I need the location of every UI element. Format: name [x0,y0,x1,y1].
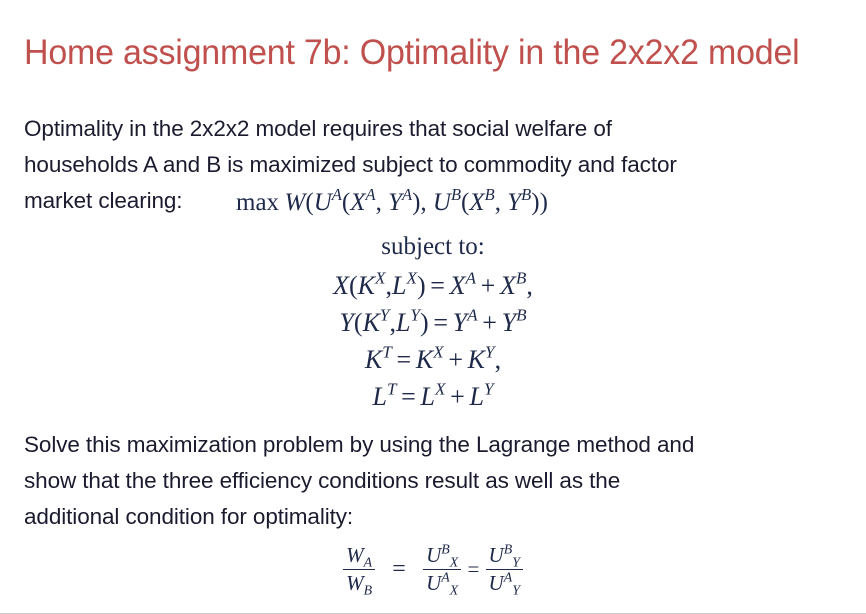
welfare-function-symbol: W [285,189,306,216]
constraint-equation-1: X(KX,LX)=XA+XB, [0,271,866,301]
utility-b-arg1-base: X [469,189,484,216]
ubx-base: U [426,543,441,567]
task-paragraph: Solve this maximization problem by using… [24,427,850,535]
marginal-utility-y-fraction: UBY UAY [486,543,523,596]
utility-a-args-open: ( [342,189,350,216]
uay-base: U [489,571,504,595]
eq4-rhs1-base: L [421,382,435,411]
eq3-rhs1-base: K [416,345,433,374]
eq2-lhs-function: Y [339,308,353,337]
utility-b-arg-comma: , [495,189,501,216]
paren-open: ( [305,189,313,216]
eq4-equals-sign: = [397,382,421,411]
muy-denominator: UAY [486,570,523,596]
subject-to-heading: subject to: [0,233,866,261]
welfare-weight-numerator: WA [343,543,375,570]
utility-b-base: U [433,189,451,216]
eq1-rhs2-base: X [500,271,516,300]
eq3-rhs2-superscript: Y [485,342,495,361]
eq1-lhs-function: X [333,271,349,300]
final-equals-sign-2: = [466,557,480,582]
eq2-labor-base: L [396,308,410,337]
utility-b-arg1-superscript: B [485,185,495,204]
uax-superscript: A [441,569,449,584]
intro-line-2: households A and B is maximized subject … [24,147,850,183]
mux-numerator: UBX [423,543,461,570]
eq3-rhs2-base: K [468,345,485,374]
eq3-equals-sign: = [392,345,416,374]
eq4-lhs-base: L [372,382,386,411]
eq1-capital-base: K [358,271,375,300]
uax-base: U [426,571,441,595]
eq1-labor-base: L [392,271,406,300]
optimality-condition-formula: WA WB = UBX UAX = UBY UAY [0,543,866,596]
eq1-rhs1-superscript: A [466,268,476,287]
eq4-rhs2-superscript: Y [484,379,494,398]
eq2-rhs1-base: Y [453,308,467,337]
eq2-labor-superscript: Y [410,305,420,324]
utility-a-arg2-base: Y [388,189,402,216]
eq1-capital-superscript: X [375,268,385,287]
eq2-plus-sign: + [478,308,502,337]
uax-subscript: X [450,582,458,597]
eq1-rhs2-superscript: B [516,268,526,287]
utility-b-arg2-base: Y [507,189,521,216]
slide-canvas: Home assignment 7b: Optimality in the 2x… [0,0,866,614]
eq3-plus-sign: + [444,345,468,374]
eq2-rhs2-superscript: B [516,305,526,324]
utility-b-superscript: B [451,185,461,204]
utility-a-arg1-superscript: A [365,185,375,204]
objective-separator: , [420,189,426,216]
eq1-plus-sign: + [476,271,500,300]
constraint-equation-3: KT=KX+KY, [0,345,866,375]
task-line-2: show that the three efficiency condition… [24,463,850,499]
eq2-capital-base: K [363,308,380,337]
utility-a-arg2-superscript: A [402,185,412,204]
utility-a-arg1-base: X [350,189,365,216]
uby-subscript: Y [512,555,520,570]
mux-denominator: UAX [423,570,461,596]
eq2-rhs1-superscript: A [467,305,477,324]
welfare-weight-fraction: WA WB [343,543,375,596]
eq2-paren-open: ( [354,308,363,337]
eq4-rhs1-superscript: X [435,379,445,398]
eq3-lhs-base: K [365,345,382,374]
eq3-lhs-superscript: T [382,342,392,361]
eq4-plus-sign: + [445,382,469,411]
uay-subscript: Y [512,582,520,597]
eq1-paren-open: ( [349,271,358,300]
marginal-utility-x-fraction: UBX UAX [423,543,461,596]
eq2-equals-sign: = [429,308,453,337]
wa-subscript: A [364,555,372,570]
uay-superscript: A [504,569,512,584]
uby-superscript: B [504,541,512,556]
utility-b-arg2-superscript: B [521,185,531,204]
eq2-paren-close: ) [420,308,429,337]
eq1-labor-superscript: X [406,268,416,287]
page-title: Home assignment 7b: Optimality in the 2x… [24,31,799,75]
muy-numerator: UBY [486,543,523,570]
intro-line-1: Optimality in the 2x2x2 model requires t… [24,111,850,147]
utility-a-superscript: A [332,185,342,204]
eq1-rhs1-base: X [450,271,466,300]
task-line-3: additional condition for optimality: [24,499,850,535]
ubx-subscript: X [450,555,458,570]
wa-base: W [346,543,364,567]
eq2-rhs2-base: Y [502,308,516,337]
utility-b-args-close: ) [531,189,539,216]
ubx-superscript: B [441,541,449,556]
utility-a-base: U [314,189,332,216]
eq3-rhs1-superscript: X [433,342,443,361]
utility-a-arg-comma: , [376,189,382,216]
uby-base: U [489,543,504,567]
paren-close: ) [540,189,548,216]
market-clearing-label: market clearing: [24,188,182,213]
wb-subscript: B [364,582,372,597]
wb-base: W [346,571,364,595]
eq4-lhs-superscript: T [387,379,397,398]
eq3-trailing-comma: , [495,345,502,374]
constraint-equation-4: LT=LX+LY [0,382,866,412]
eq1-paren-close: ) [417,271,426,300]
welfare-weight-denominator: WB [343,570,375,596]
eq1-equals-sign: = [426,271,450,300]
constraint-equation-2: Y(KY,LY)=YA+YB [0,308,866,338]
eq1-trailing-comma: , [526,271,533,300]
eq4-rhs2-base: L [469,382,483,411]
task-line-1: Solve this maximization problem by using… [24,427,850,463]
final-equals-sign-1: = [380,556,418,583]
objective-function-formula: maxW(UA(XA, YA), UB(XB, YB)) [236,189,548,217]
max-operator: max [236,189,285,216]
